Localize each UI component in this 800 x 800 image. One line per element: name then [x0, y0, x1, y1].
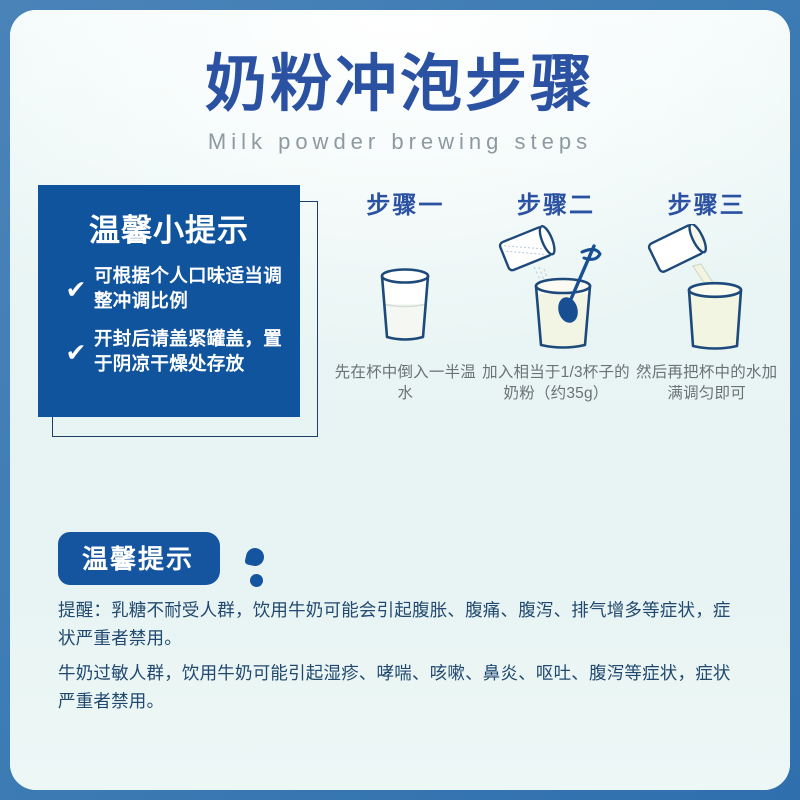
step-3-illustration	[631, 224, 782, 354]
notice-paragraph: 牛奶过敏人群，饮用牛奶可能引起湿疹、哮喘、咳嗽、鼻炎、呕吐、腹泻等症状，症状严重…	[58, 659, 742, 716]
droplet-large-icon	[244, 546, 265, 567]
tips-box-panel: 温馨小提示 ✔ 可根据个人口味适当调整冲调比例 ✔ 开封后请盖紧罐盖，置于阴凉干…	[38, 185, 300, 417]
step-1: 步骤一	[330, 185, 481, 447]
droplet-small-icon	[250, 574, 263, 587]
poster-card: 奶粉冲泡步骤 Milk powder brewing steps 温馨小提示 ✔…	[10, 10, 790, 790]
glass-half-water-icon	[345, 234, 465, 354]
scoop-pouring-powder-into-glass-with-spoon-icon	[486, 224, 626, 354]
step-1-caption: 先在杯中倒入一半温水	[330, 362, 481, 405]
middle-section: 温馨小提示 ✔ 可根据个人口味适当调整冲调比例 ✔ 开封后请盖紧罐盖，置于阴凉干…	[10, 185, 790, 455]
step-2-caption: 加入相当于1/3杯子的奶粉（约35g）	[481, 362, 632, 405]
notice-badge-row: 温馨提示	[58, 530, 742, 592]
notice-section: 温馨提示 提醒：乳糖不耐受人群，饮用牛奶可能会引起腹胀、腹痛、腹泻、排气增多等症…	[10, 530, 790, 715]
tips-box-title: 温馨小提示	[52, 205, 286, 250]
step-2-illustration	[481, 224, 632, 354]
tip-item: ✔ 可根据个人口味适当调整冲调比例	[58, 264, 286, 314]
header: 奶粉冲泡步骤 Milk powder brewing steps	[10, 10, 790, 155]
page-title: 奶粉冲泡步骤	[10, 52, 790, 117]
tip-item-label: 开封后请盖紧罐盖，置于阴凉干燥处存放	[94, 327, 286, 377]
poster-content: 奶粉冲泡步骤 Milk powder brewing steps 温馨小提示 ✔…	[10, 10, 790, 790]
tips-box: 温馨小提示 ✔ 可根据个人口味适当调整冲调比例 ✔ 开封后请盖紧罐盖，置于阴凉干…	[38, 185, 318, 437]
check-icon: ✔	[58, 278, 94, 303]
step-1-illustration	[330, 224, 481, 354]
notice-paragraph: 提醒：乳糖不耐受人群，饮用牛奶可能会引起腹胀、腹痛、腹泻、排气增多等症状，症状严…	[58, 596, 742, 653]
step-3-title: 步骤三	[631, 185, 782, 220]
step-2: 步骤二	[481, 185, 632, 447]
tip-item-label: 可根据个人口味适当调整冲调比例	[94, 264, 286, 314]
step-1-title: 步骤一	[330, 185, 481, 220]
step-3: 步骤三	[631, 185, 782, 447]
page-subtitle: Milk powder brewing steps	[10, 129, 790, 155]
tip-item: ✔ 开封后请盖紧罐盖，置于阴凉干燥处存放	[58, 327, 286, 377]
check-icon: ✔	[58, 341, 94, 366]
step-2-title: 步骤二	[481, 185, 632, 220]
steps-list: 步骤一	[330, 185, 782, 447]
scoop-pouring-liquid-into-full-glass-icon	[637, 224, 777, 354]
notice-badge: 温馨提示	[58, 532, 220, 585]
step-3-caption: 然后再把杯中的水加满调匀即可	[631, 362, 782, 405]
